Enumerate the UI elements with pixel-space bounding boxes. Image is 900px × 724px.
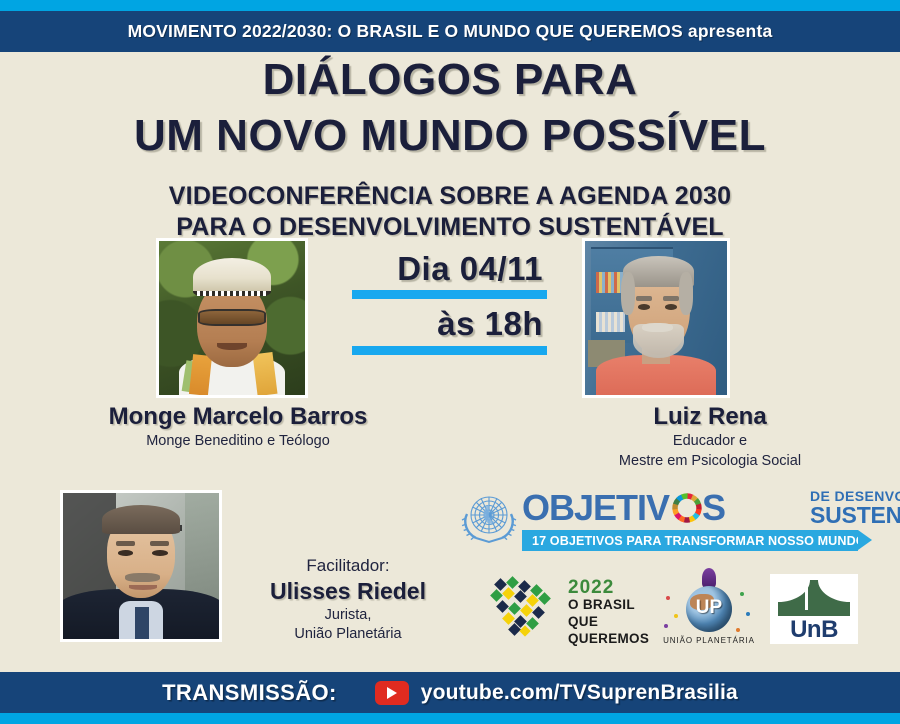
- ods-tagline: 17 OBJETIVOS PARA TRANSFORMAR NOSSO MUND…: [522, 534, 866, 548]
- transmission-label: TRANSMISSÃO:: [162, 680, 337, 706]
- photo-hair: [102, 505, 180, 534]
- photo-brow-right: [150, 541, 169, 546]
- photo-cap: [193, 258, 272, 297]
- speaker-role-line-1: Jurista,: [232, 607, 464, 625]
- speaker-photo-ulisses: [60, 490, 222, 642]
- speaker-name: Luiz Rena: [545, 404, 875, 431]
- speaker-role: Monge Beneditino e Teólogo: [58, 433, 418, 451]
- speaker-name: Ulisses Riedel: [232, 579, 464, 605]
- photo-books-row-2: [596, 312, 624, 332]
- title-line-1: DIÁLOGOS PARA: [0, 56, 900, 104]
- header-kicker: MOVIMENTO 2022/2030: O BRASIL E O MUNDO …: [128, 21, 773, 42]
- unb-wordmark: UnB: [770, 616, 858, 644]
- photo-brow-left: [116, 541, 135, 546]
- photo-tie: [135, 607, 149, 639]
- photo-eye-left: [118, 550, 134, 556]
- subtitle-line-2: PARA O DESENVOLVIMENTO SUSTENTÁVEL: [0, 212, 900, 243]
- time-underline-rule: [352, 346, 547, 355]
- photo-moustache: [125, 573, 159, 582]
- up-globe-icon: UP: [686, 586, 732, 632]
- date-underline-rule: [352, 290, 547, 299]
- partner-logo-brasil-2022: 2022 O BRASIL QUE QUEREMOS: [488, 570, 648, 642]
- facilitator-label: Facilitador:: [232, 556, 464, 576]
- speaker-name: Monge Marcelo Barros: [58, 404, 418, 431]
- photo-mouth: [129, 585, 157, 590]
- up-monogram: UP: [686, 597, 732, 619]
- ods-subtitle-line-1: DE DESENVOLVIMENTO: [810, 489, 900, 503]
- ods-subtitle-line-2: SUSTENTÁVEL: [810, 504, 900, 527]
- unb-mark-icon: [778, 580, 850, 616]
- speaker-role-line-2: União Planetária: [232, 626, 464, 644]
- speaker-caption-marcelo: Monge Marcelo Barros Monge Beneditino e …: [58, 404, 418, 451]
- speaker-caption-rena: Luiz Rena Educador e Mestre em Psicologi…: [545, 404, 875, 470]
- brasil-2022-line-2: QUEREMOS: [568, 631, 648, 648]
- ods-word-main: OBJETIV: [522, 486, 669, 530]
- united-nations-emblem-icon: [458, 488, 520, 548]
- header-bar: MOVIMENTO 2022/2030: O BRASIL E O MUNDO …: [0, 11, 900, 52]
- sdg-color-wheel-icon: [670, 491, 704, 525]
- speaker-caption-ulisses: Facilitador: Ulisses Riedel Jurista, Uni…: [232, 556, 464, 644]
- speaker-photo-rena: [582, 238, 730, 398]
- event-poster: MOVIMENTO 2022/2030: O BRASIL E O MUNDO …: [0, 0, 900, 724]
- event-date: Dia 04/11: [352, 252, 547, 287]
- brasil-2022-wordmark: 2022 O BRASIL QUE QUEREMOS: [568, 578, 648, 648]
- photo-hair-right: [679, 272, 693, 315]
- ods-wordmark: OBJETIV: [522, 486, 725, 532]
- brazil-mosaic-map-icon: [488, 576, 566, 638]
- photo-brow-right: [663, 296, 679, 301]
- partner-logo-uniao-planetaria: UP UNIÃO PLANETÁRIA: [660, 566, 758, 652]
- ods-word-tail: S: [702, 486, 725, 530]
- bottom-accent-bar: [0, 713, 900, 724]
- title-line-2: UM NOVO MUNDO POSSÍVEL: [0, 112, 900, 160]
- partner-logos: 2022 O BRASIL QUE QUEREMOS UP UNIÃO PLAN…: [488, 566, 883, 652]
- brasil-2022-year: 2022: [568, 578, 648, 597]
- photo-eye-right: [152, 550, 168, 556]
- brasil-2022-line-1: O BRASIL QUE: [568, 597, 648, 631]
- event-date-block: Dia 04/11 às 18h: [352, 252, 547, 355]
- photo-moustache: [642, 323, 673, 332]
- photo-hair-left: [621, 272, 635, 315]
- speaker-role-line-1: Educador e: [545, 433, 875, 451]
- youtube-channel-link[interactable]: youtube.com/TVSuprenBrasilia: [421, 681, 738, 705]
- youtube-play-icon[interactable]: [375, 681, 409, 705]
- ods-logo: OBJETIV: [458, 486, 876, 552]
- speaker-role-line-2: Mestre em Psicologia Social: [545, 453, 875, 471]
- ods-tagline-band: 17 OBJETIVOS PARA TRANSFORMAR NOSSO MUND…: [522, 530, 858, 551]
- photo-brow-left: [636, 296, 652, 301]
- title-block: DIÁLOGOS PARA UM NOVO MUNDO POSSÍVEL VID…: [0, 56, 900, 242]
- footer-bar: TRANSMISSÃO: youtube.com/TVSuprenBrasili…: [0, 672, 900, 713]
- top-accent-bar: [0, 0, 900, 11]
- partner-logo-unb: UnB: [770, 574, 858, 644]
- unb-mark-divider: [805, 574, 808, 610]
- up-flame-icon: [702, 568, 716, 588]
- event-time: às 18h: [352, 307, 547, 342]
- subtitle-line-1: VIDEOCONFERÊNCIA SOBRE A AGENDA 2030: [0, 181, 900, 212]
- ods-subtitle: DE DESENVOLVIMENTO SUSTENTÁVEL: [810, 489, 900, 527]
- speaker-photo-marcelo: [156, 238, 308, 398]
- photo-glasses: [198, 309, 265, 326]
- up-caption: UNIÃO PLANETÁRIA: [654, 636, 764, 645]
